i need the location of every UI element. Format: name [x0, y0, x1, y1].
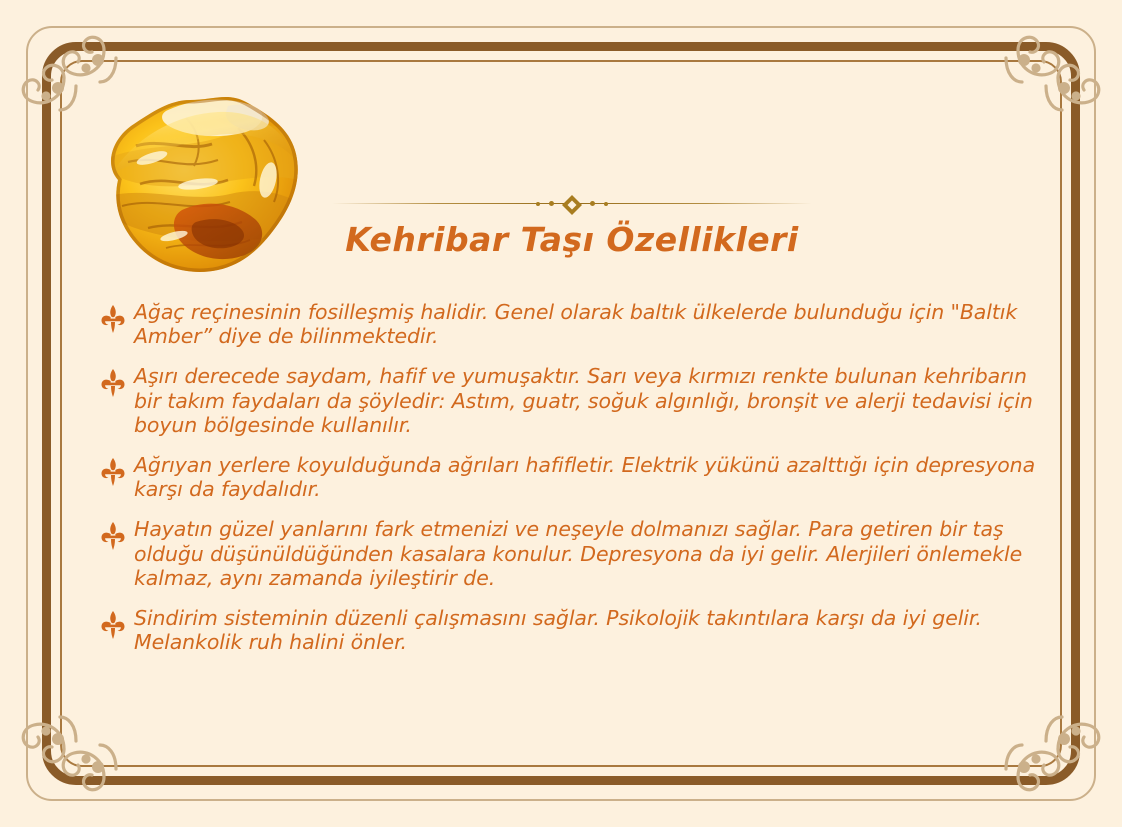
list-item: Aşırı derecede saydam, hafif ve yumuşakt… — [100, 364, 1050, 437]
features-list: Ağaç reçinesinin fosilleşmiş halidir. Ge… — [100, 300, 1050, 654]
divider-dots-right — [588, 201, 634, 207]
list-item-text: Aşırı derecede saydam, hafif ve yumuşakt… — [134, 364, 1050, 437]
diamond-divider-icon — [332, 192, 812, 214]
list-item: Ağaç reçinesinin fosilleşmiş halidir. Ge… — [100, 300, 1050, 348]
corner-ornament-bottom-left — [12, 693, 140, 811]
fleur-de-lis-icon — [100, 610, 126, 640]
divider-dots-left — [510, 201, 556, 207]
fleur-de-lis-icon — [100, 521, 126, 551]
list-item-text: Sindirim sisteminin düzenli çalışmasını … — [134, 606, 1050, 654]
fleur-de-lis-icon — [100, 368, 126, 398]
amber-stone-image — [78, 88, 320, 293]
list-item: Hayatın güzel yanlarını fark etmenizi ve… — [100, 517, 1050, 590]
title-block: Kehribar Taşı Özellikleri — [332, 192, 812, 259]
divider-diamond-icon — [562, 195, 582, 215]
list-item-text: Hayatın güzel yanlarını fark etmenizi ve… — [134, 517, 1050, 590]
list-item: Ağrıyan yerlere koyulduğunda ağrıları ha… — [100, 453, 1050, 501]
corner-ornament-top-right — [982, 16, 1110, 134]
fleur-de-lis-icon — [100, 304, 126, 334]
list-item-text: Ağrıyan yerlere koyulduğunda ağrıları ha… — [134, 453, 1050, 501]
poster-page: Kehribar Taşı Özellikleri Ağaç reçinesin… — [0, 0, 1122, 827]
list-item-text: Ağaç reçinesinin fosilleşmiş halidir. Ge… — [134, 300, 1050, 348]
fleur-de-lis-icon — [100, 457, 126, 487]
page-title: Kehribar Taşı Özellikleri — [332, 220, 812, 259]
corner-ornament-bottom-right — [982, 693, 1110, 811]
list-item: Sindirim sisteminin düzenli çalışmasını … — [100, 606, 1050, 654]
